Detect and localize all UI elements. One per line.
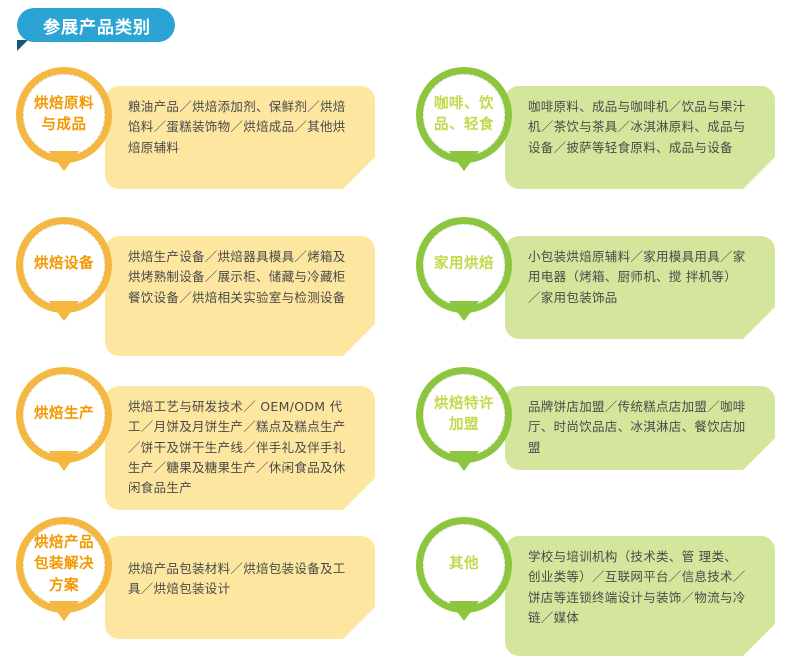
category-panel-6: 烘焙产品包装材料／烘焙包装设备及工具／烘焙包装设计	[105, 536, 375, 639]
category-label-3: 家用烘焙	[416, 217, 512, 313]
category-pin-6[interactable]: 烘焙产品 包装解决 方案	[16, 517, 112, 613]
category-description-1: 咖啡原料、成品与咖啡机／饮品与果汁机／茶饮与茶具／冰淇淋原料、成品与设备／披萨等…	[505, 86, 775, 170]
category-label-4: 烘焙生产	[16, 367, 112, 463]
category-label-1: 咖啡、饮 品、轻食	[416, 67, 512, 163]
category-pin-2[interactable]: 烘焙设备	[16, 217, 112, 313]
category-card-2[interactable]: 烘焙生产设备／烘焙器具模具／烤箱及烘烤熟制设备／展示柜、储藏与冷藏柜 餐饮设备／…	[0, 208, 400, 358]
category-pin-1[interactable]: 咖啡、饮 品、轻食	[416, 67, 512, 163]
category-card-7[interactable]: 学校与培训机构（技术类、管 理类、创业类等）／互联网平台／信息技术／饼店等连锁终…	[400, 508, 800, 658]
category-card-6[interactable]: 烘焙产品包装材料／烘焙包装设备及工具／烘焙包装设计 烘焙产品 包装解决 方案	[0, 508, 400, 658]
category-pin-7[interactable]: 其他	[416, 517, 512, 613]
category-label-5: 烘焙特许 加盟	[416, 367, 512, 463]
category-panel-0: 粮油产品／烘焙添加剂、保鲜剂／烘焙馅料／蛋糕装饰物／烘焙成品／其他烘焙原辅料	[105, 86, 375, 189]
category-description-7: 学校与培训机构（技术类、管 理类、创业类等）／互联网平台／信息技术／饼店等连锁终…	[505, 536, 775, 640]
category-panel-7: 学校与培训机构（技术类、管 理类、创业类等）／互联网平台／信息技术／饼店等连锁终…	[505, 536, 775, 656]
header-badge-tail	[17, 40, 28, 51]
category-description-6: 烘焙产品包装材料／烘焙包装设备及工具／烘焙包装设计	[105, 536, 375, 612]
category-description-4: 烘焙工艺与研发技术／ OEM/ODM 代工／月饼及月饼生产／糕点及糕点生产／饼干…	[105, 386, 375, 510]
category-card-5[interactable]: 品牌饼店加盟／传统糕点店加盟／咖啡厅、时尚饮品店、冰淇淋店、餐饮店加盟 烘焙特许…	[400, 358, 800, 508]
category-label-2: 烘焙设备	[16, 217, 112, 313]
category-description-2: 烘焙生产设备／烘焙器具模具／烤箱及烘烤熟制设备／展示柜、储藏与冷藏柜 餐饮设备／…	[105, 236, 375, 320]
category-label-7: 其他	[416, 517, 512, 613]
category-pin-3[interactable]: 家用烘焙	[416, 217, 512, 313]
header-badge: 参展产品类别	[17, 8, 175, 42]
category-card-1[interactable]: 咖啡原料、成品与咖啡机／饮品与果汁机／茶饮与茶具／冰淇淋原料、成品与设备／披萨等…	[400, 58, 800, 208]
category-description-5: 品牌饼店加盟／传统糕点店加盟／咖啡厅、时尚饮品店、冰淇淋店、餐饮店加盟	[505, 386, 775, 470]
category-card-0[interactable]: 粮油产品／烘焙添加剂、保鲜剂／烘焙馅料／蛋糕装饰物／烘焙成品／其他烘焙原辅料 烘…	[0, 58, 400, 208]
category-description-3: 小包装烘焙原辅料／家用模具用具／家用电器（烤箱、厨师机、搅 拌机等）／家用包装饰…	[505, 236, 775, 320]
category-panel-3: 小包装烘焙原辅料／家用模具用具／家用电器（烤箱、厨师机、搅 拌机等）／家用包装饰…	[505, 236, 775, 339]
category-panel-1: 咖啡原料、成品与咖啡机／饮品与果汁机／茶饮与茶具／冰淇淋原料、成品与设备／披萨等…	[505, 86, 775, 189]
category-label-0: 烘焙原料 与成品	[16, 67, 112, 163]
page-title: 参展产品类别	[43, 13, 151, 38]
category-panel-4: 烘焙工艺与研发技术／ OEM/ODM 代工／月饼及月饼生产／糕点及糕点生产／饼干…	[105, 386, 375, 510]
category-panel-2: 烘焙生产设备／烘焙器具模具／烤箱及烘烤熟制设备／展示柜、储藏与冷藏柜 餐饮设备／…	[105, 236, 375, 356]
category-card-4[interactable]: 烘焙工艺与研发技术／ OEM/ODM 代工／月饼及月饼生产／糕点及糕点生产／饼干…	[0, 358, 400, 508]
category-panel-5: 品牌饼店加盟／传统糕点店加盟／咖啡厅、时尚饮品店、冰淇淋店、餐饮店加盟	[505, 386, 775, 470]
category-label-6: 烘焙产品 包装解决 方案	[16, 517, 112, 613]
category-pin-0[interactable]: 烘焙原料 与成品	[16, 67, 112, 163]
category-description-0: 粮油产品／烘焙添加剂、保鲜剂／烘焙馅料／蛋糕装饰物／烘焙成品／其他烘焙原辅料	[105, 86, 375, 170]
category-pin-4[interactable]: 烘焙生产	[16, 367, 112, 463]
category-pin-5[interactable]: 烘焙特许 加盟	[416, 367, 512, 463]
category-grid: 粮油产品／烘焙添加剂、保鲜剂／烘焙馅料／蛋糕装饰物／烘焙成品／其他烘焙原辅料 烘…	[0, 58, 800, 653]
category-card-3[interactable]: 小包装烘焙原辅料／家用模具用具／家用电器（烤箱、厨师机、搅 拌机等）／家用包装饰…	[400, 208, 800, 358]
